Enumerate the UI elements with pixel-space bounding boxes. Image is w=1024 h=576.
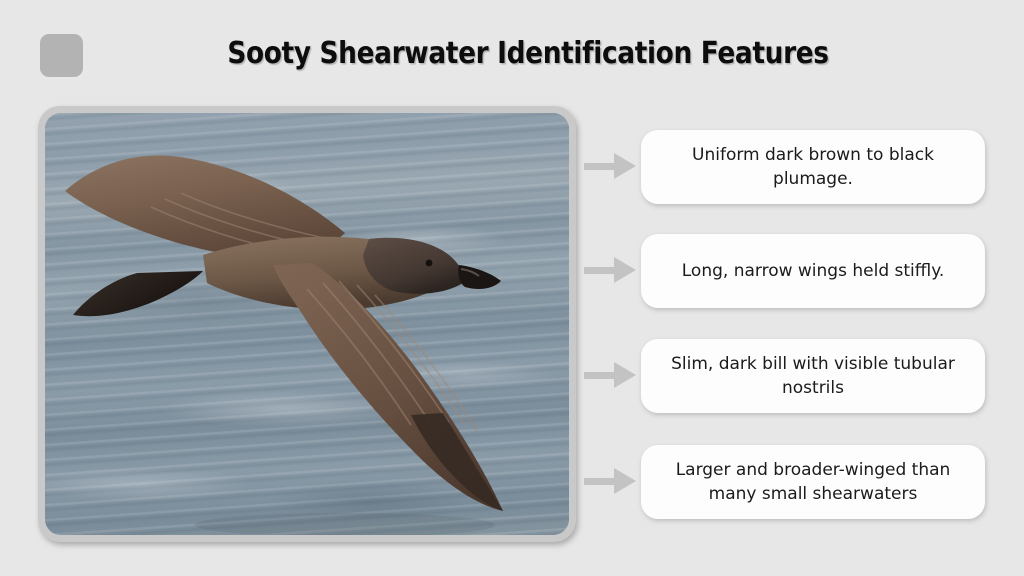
- sooty-shearwater-illustration: [45, 113, 569, 535]
- bird-eye: [426, 260, 433, 267]
- feature-card[interactable]: Larger and broader-winged than many smal…: [641, 445, 985, 519]
- arrow-right-icon: [584, 257, 636, 283]
- arrow-head: [614, 362, 636, 388]
- slide-canvas: Sooty Shearwater Identification Features: [0, 0, 1024, 576]
- feature-card-text: Larger and broader-winged than many smal…: [659, 458, 967, 506]
- feature-card-text: Slim, dark bill with visible tubular nos…: [659, 352, 967, 400]
- arrow-right-icon: [584, 153, 636, 179]
- bird-tail: [73, 271, 203, 316]
- feature-card-text: Uniform dark brown to black plumage.: [659, 143, 967, 191]
- arrow-head: [614, 153, 636, 179]
- page-title: Sooty Shearwater Identification Features: [151, 36, 904, 71]
- arrow-head: [614, 257, 636, 283]
- arrow-head: [614, 468, 636, 494]
- feature-card-text: Long, narrow wings held stiffly.: [682, 259, 944, 283]
- feature-card[interactable]: Uniform dark brown to black plumage.: [641, 130, 985, 204]
- arrow-right-icon: [584, 362, 636, 388]
- feature-card[interactable]: Long, narrow wings held stiffly.: [641, 234, 985, 308]
- arrow-shaft: [584, 478, 618, 485]
- arrow-shaft: [584, 267, 618, 274]
- arrow-shaft: [584, 372, 618, 379]
- bird-photo: [45, 113, 569, 535]
- arrow-shaft: [584, 163, 618, 170]
- arrow-right-icon: [584, 468, 636, 494]
- feature-card[interactable]: Slim, dark bill with visible tubular nos…: [641, 339, 985, 413]
- logo-placeholder-icon: [40, 34, 83, 77]
- bird-photo-frame: [38, 106, 576, 542]
